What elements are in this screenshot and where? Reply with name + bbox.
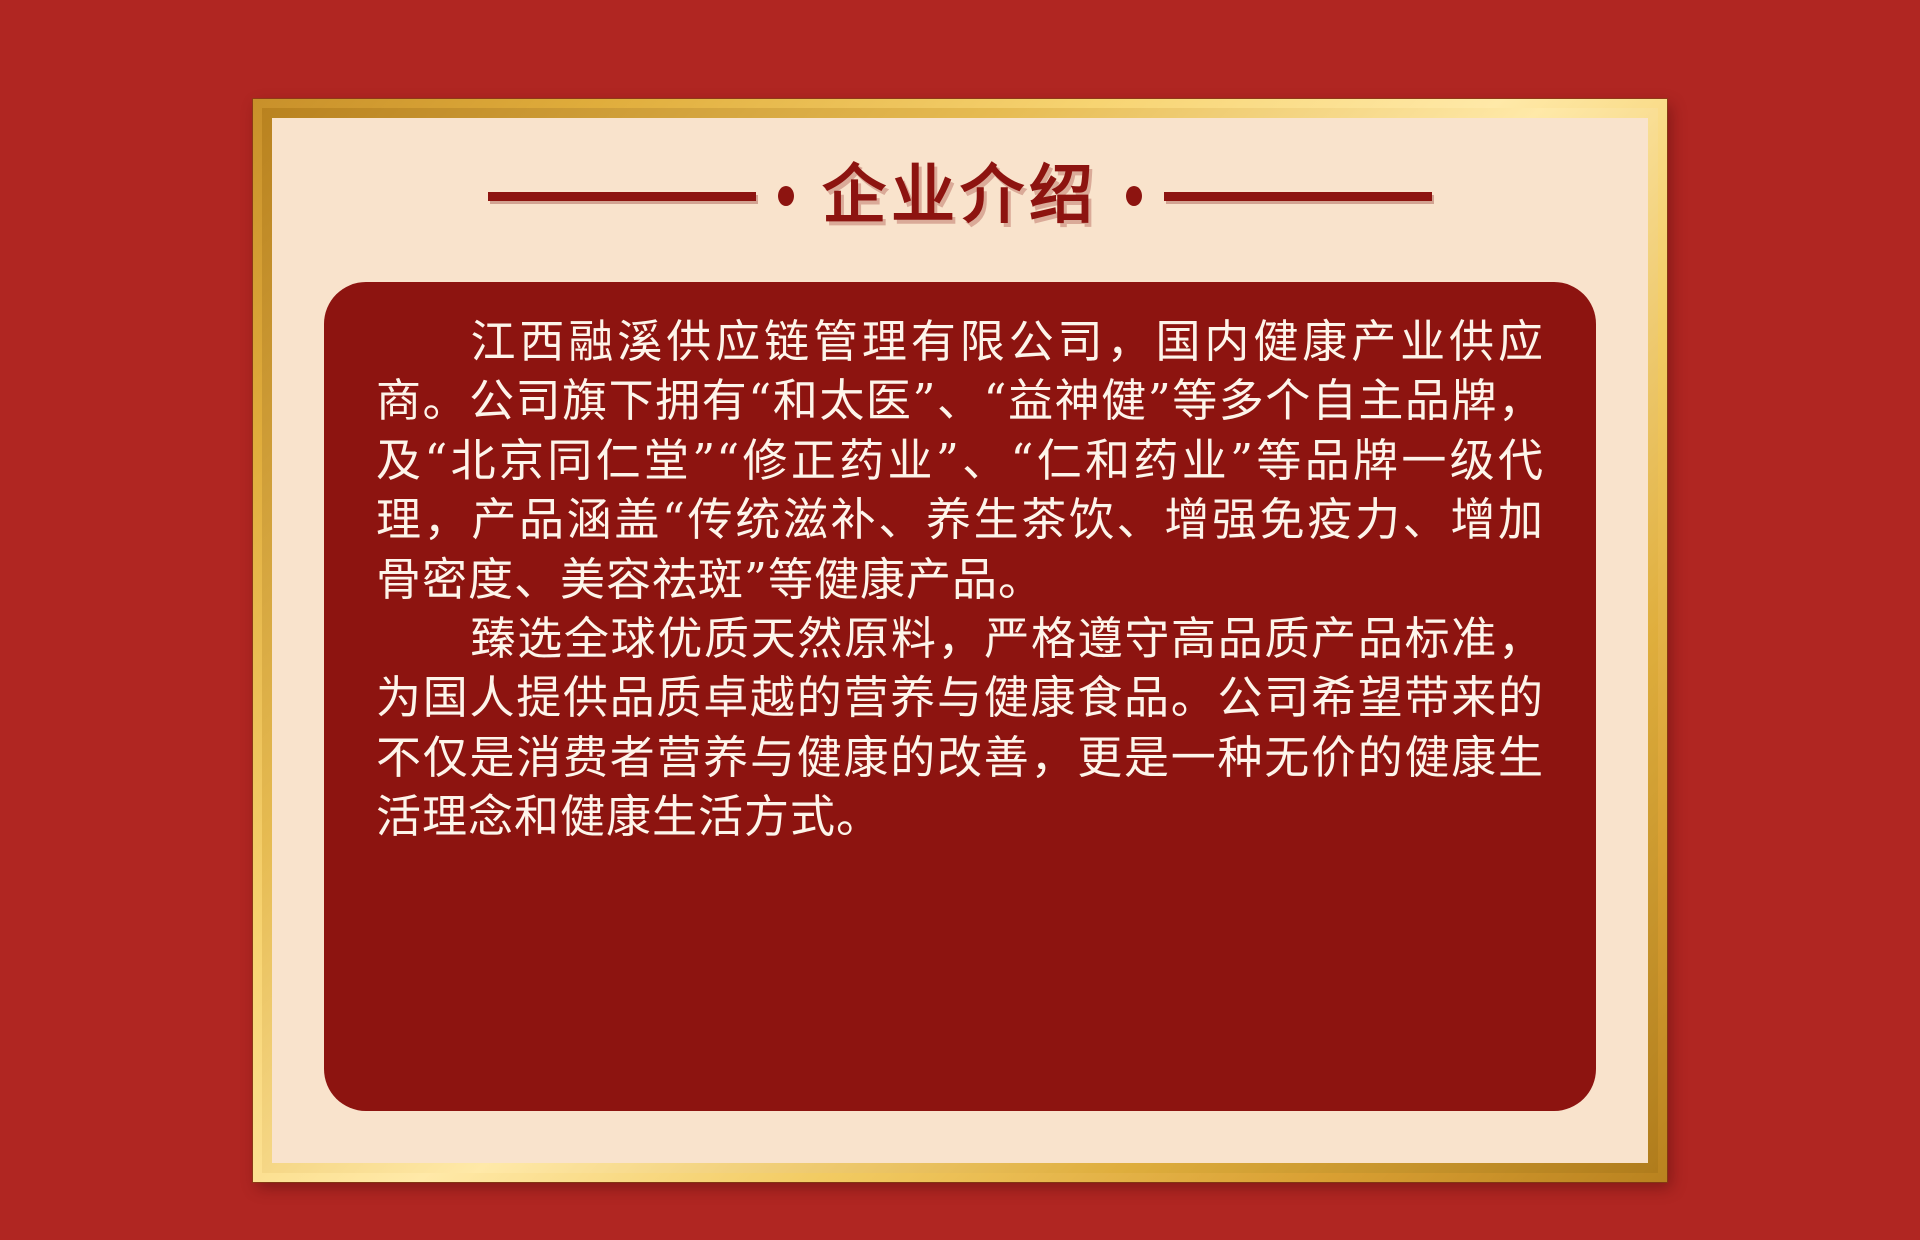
heading-rule-right [1164,192,1432,201]
poster-card: 企业介绍 江西融溪供应链管理有限公司，国内健康产业供应商。公司旗下拥有“和太医”… [272,118,1648,1163]
introduction-text-panel: 江西融溪供应链管理有限公司，国内健康产业供应商。公司旗下拥有“和太医”、“益神健… [324,282,1596,1111]
page-title: 企业介绍 [816,164,1104,228]
heading-rule-left [488,192,756,201]
heading-dot-right-icon [1126,186,1142,206]
introduction-paragraph: 臻选全球优质天然原料，严格遵守高品质产品标准，为国人提供品质卓越的营养与健康食品… [376,609,1544,847]
section-heading: 企业介绍 [272,151,1648,241]
introduction-paragraph: 江西融溪供应链管理有限公司，国内健康产业供应商。公司旗下拥有“和太医”、“益神健… [376,312,1544,609]
company-introduction-poster: 企业介绍 江西融溪供应链管理有限公司，国内健康产业供应商。公司旗下拥有“和太医”… [253,99,1667,1182]
heading-dot-left-icon [778,186,794,206]
